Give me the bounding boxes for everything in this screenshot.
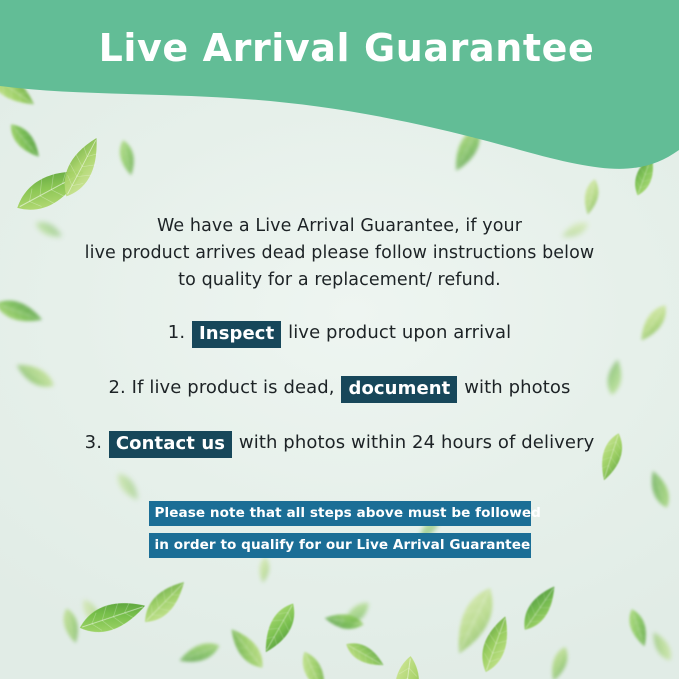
main-content: We have a Live Arrival Guarantee, if you… [0,0,679,679]
step-number-1: 1. [168,322,185,343]
step-number-2: 2. [108,377,125,398]
step-text-after-3: with photos within 24 hours of delivery [239,432,594,453]
step-item-2: 2. If live product is dead, document wit… [40,375,640,402]
step-text-after-2: with photos [464,377,570,398]
notice-line-1: Please note that all steps above must be… [149,501,531,526]
intro-line-2: live product arrives dead please follow … [70,240,610,267]
intro-paragraph: We have a Live Arrival Guarantee, if you… [70,213,610,294]
live-arrival-guarantee-poster: Live Arrival Guarantee [0,0,679,679]
step-number-3: 3. [85,432,102,453]
notice-banner: Please note that all steps above must be… [149,501,531,558]
notice-line-2: in order to qualify for our Live Arrival… [149,533,531,558]
step-text-before-2: If live product is dead, [132,377,335,398]
step-item-1: 1. Inspect live product upon arrival [40,320,640,347]
step-item-3: 3. Contact us with photos within 24 hour… [40,430,640,457]
step-highlight-document: document [341,376,457,403]
step-highlight-contact-us: Contact us [109,431,232,458]
intro-line-3: to quality for a replacement/ refund. [70,267,610,294]
intro-line-1: We have a Live Arrival Guarantee, if you… [70,213,610,240]
steps-list: 1. Inspect live product upon arrival 2. … [40,320,640,457]
step-highlight-inspect: Inspect [192,321,281,348]
step-text-after-1: live product upon arrival [288,322,511,343]
